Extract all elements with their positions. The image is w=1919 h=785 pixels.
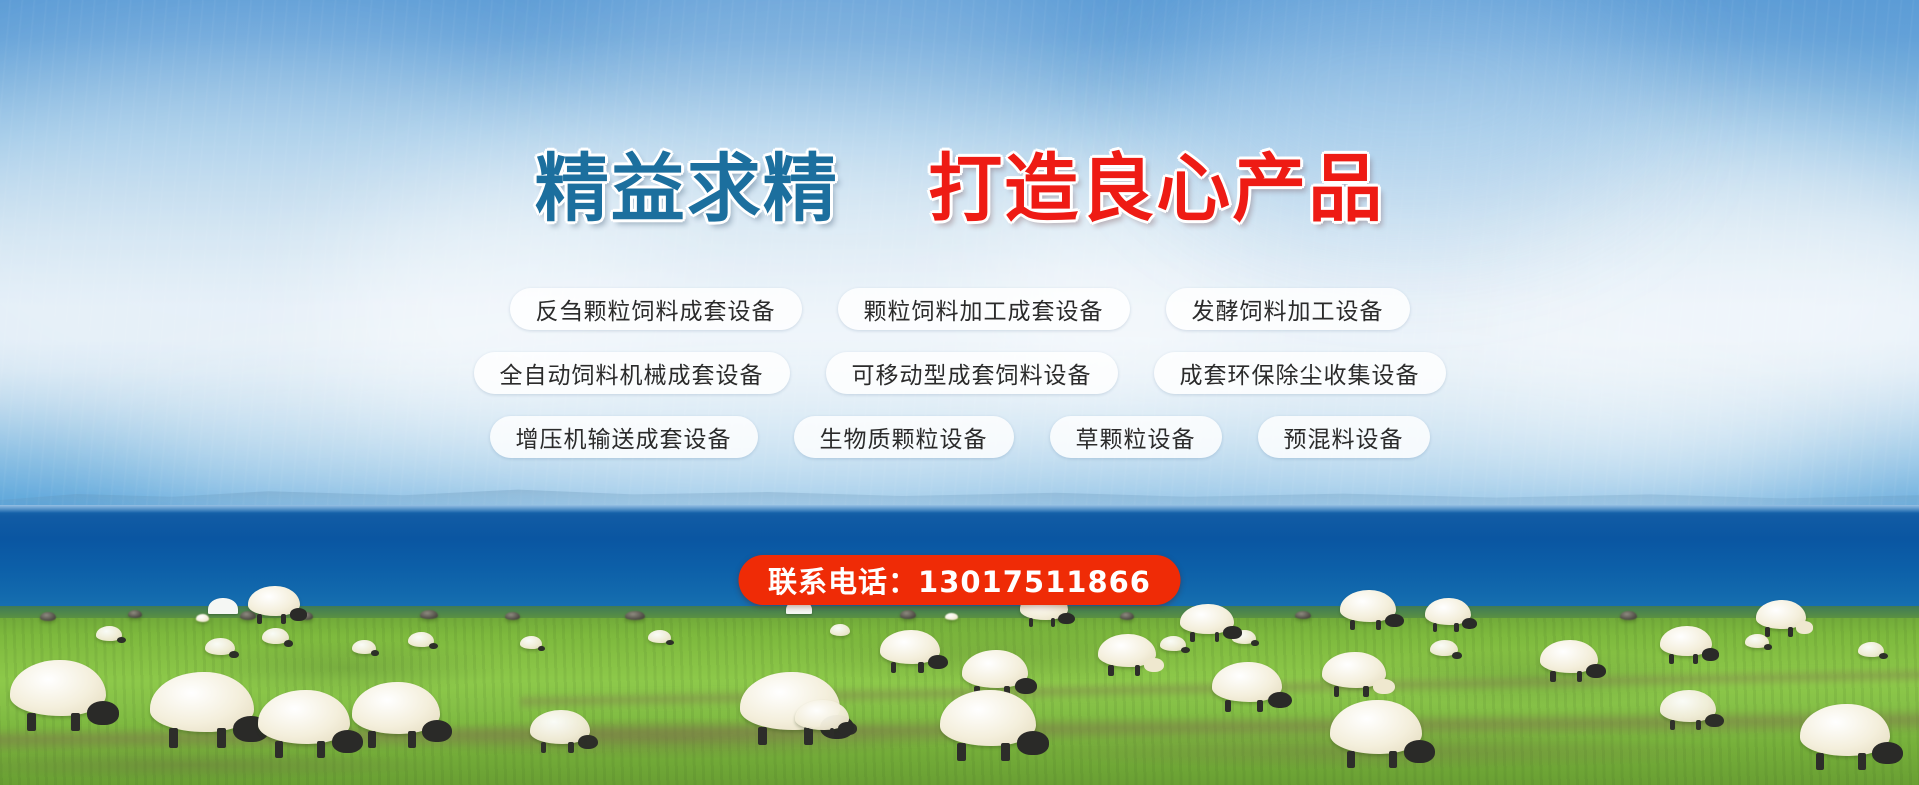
sheep [1425,598,1471,625]
sheep [205,638,235,655]
sheep [900,610,916,619]
sheep [880,630,940,664]
sheep [420,610,438,619]
product-pill[interactable]: 生物质颗粒设备 [794,416,1014,458]
product-pill[interactable]: 预混料设备 [1258,416,1430,458]
promo-banner: 精益求精 打造良心产品 反刍颗粒饲料成套设备 颗粒饲料加工成套设备 发酵饲料加工… [0,0,1919,785]
product-category-list: 反刍颗粒饲料成套设备 颗粒饲料加工成套设备 发酵饲料加工设备 全自动饲料机械成套… [0,288,1919,458]
sheep [505,612,520,620]
contact-phone-badge[interactable]: 联系电话：13017511866 [738,555,1181,605]
sheep [1295,611,1311,619]
sheep [10,660,106,716]
sheep [1322,652,1386,688]
sheep [1858,642,1884,657]
sheep [625,611,645,620]
sheep [1330,700,1422,754]
sheep [1340,590,1396,622]
yurt-tent [208,598,238,614]
product-pill[interactable]: 颗粒饲料加工成套设备 [838,288,1130,330]
sheep [1660,690,1716,722]
product-pill[interactable]: 增压机输送成套设备 [490,416,758,458]
sheep [1160,636,1186,651]
headline-blue-text: 精益求精 [535,152,839,226]
sheep [1800,704,1890,756]
sheep [128,610,142,618]
sheep [248,586,300,616]
sheep [40,612,56,621]
banner-headline: 精益求精 打造良心产品 [0,152,1919,226]
sheep [1756,600,1806,629]
sheep [96,626,122,641]
sheep [1540,640,1598,673]
sheep [940,690,1036,746]
sheep [352,682,440,734]
product-row-3: 增压机输送成套设备 生物质颗粒设备 草颗粒设备 预混料设备 [490,416,1430,458]
sheep [830,624,850,636]
product-pill[interactable]: 成套环保除尘收集设备 [1154,352,1446,394]
sheep [258,690,350,744]
sheep [150,672,254,732]
product-pill[interactable]: 全自动饲料机械成套设备 [474,352,790,394]
sheep [1180,604,1234,634]
sheep [1120,612,1134,620]
sheep [1430,640,1458,656]
sheep [1098,634,1156,667]
sheep [408,632,434,647]
sheep [262,628,289,644]
sheep [1620,611,1637,620]
sheep [945,613,958,620]
product-pill[interactable]: 发酵饲料加工设备 [1166,288,1410,330]
sheep [196,614,209,622]
product-pill[interactable]: 草颗粒设备 [1050,416,1222,458]
sheep [1660,626,1712,656]
sheep [530,710,590,744]
product-pill[interactable]: 反刍颗粒饲料成套设备 [510,288,802,330]
sheep [962,650,1028,688]
sheep [795,700,849,730]
product-pill[interactable]: 可移动型成套饲料设备 [826,352,1118,394]
product-row-2: 全自动饲料机械成套设备 可移动型成套饲料设备 成套环保除尘收集设备 [474,352,1446,394]
headline-red-text: 打造良心产品 [928,152,1384,226]
sheep [352,640,376,654]
sheep [520,636,542,649]
sheep [648,630,671,643]
lake-horizon-highlight [0,505,1919,513]
sheep [1212,662,1282,702]
product-row-1: 反刍颗粒饲料成套设备 颗粒饲料加工成套设备 发酵饲料加工设备 [510,288,1410,330]
